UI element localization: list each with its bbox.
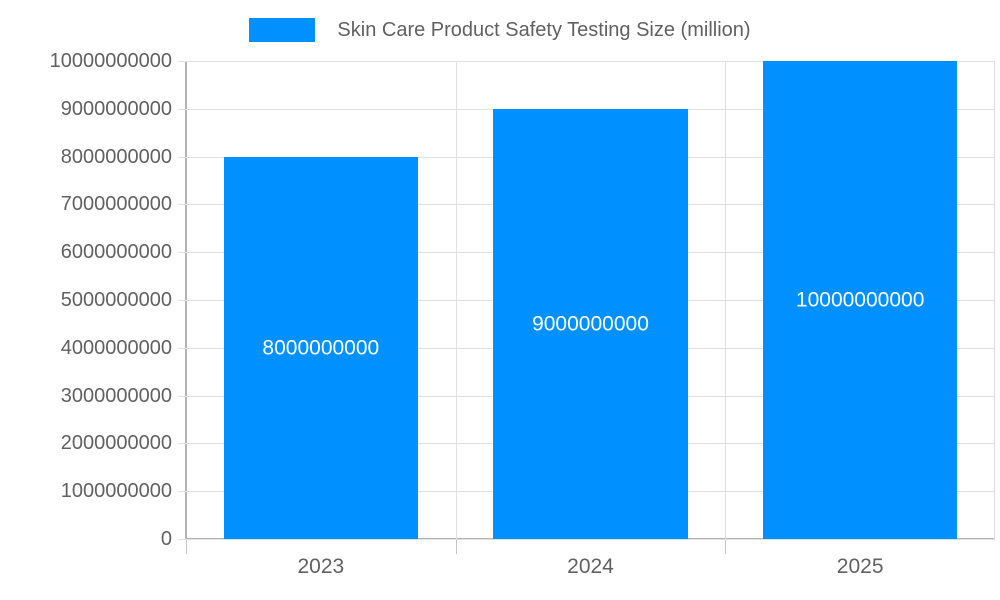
gridline-vertical: [456, 61, 457, 539]
legend-item-label: Skin Care Product Safety Testing Size (m…: [337, 20, 750, 40]
y-axis-tick-label: 0: [12, 529, 172, 549]
y-axis-tick-mark: [178, 204, 186, 205]
bar-value-label: 10000000000: [763, 290, 957, 311]
gridline-horizontal: [186, 539, 995, 540]
x-axis-tick-mark: [456, 540, 457, 554]
x-axis-tick-mark: [186, 540, 187, 554]
y-axis-tick-mark: [178, 348, 186, 349]
y-axis-tick-mark: [178, 300, 186, 301]
plot-area: 8000000000900000000010000000000: [186, 61, 995, 539]
gridline-vertical: [725, 61, 726, 539]
y-axis-tick-mark: [178, 491, 186, 492]
y-axis-tick-label: 3000000000: [12, 386, 172, 406]
bar-2025[interactable]: 10000000000: [763, 61, 957, 539]
y-axis-tick-mark: [178, 61, 186, 62]
x-axis-tick-label: 2023: [297, 556, 344, 577]
y-axis-tick-label: 10000000000: [12, 51, 172, 71]
y-axis-tick-label: 9000000000: [12, 99, 172, 119]
y-axis-tick-label: 1000000000: [12, 481, 172, 501]
y-axis-tick-label: 4000000000: [12, 338, 172, 358]
y-axis-tick-mark: [178, 109, 186, 110]
bar-2023[interactable]: 8000000000: [224, 157, 418, 539]
gridline-vertical: [994, 61, 995, 539]
y-axis-tick-label: 8000000000: [12, 147, 172, 167]
bar-chart: Skin Care Product Safety Testing Size (m…: [0, 0, 1000, 600]
y-axis-tick-label: 7000000000: [12, 194, 172, 214]
y-axis-tick-mark: [178, 252, 186, 253]
y-axis-tick-label: 6000000000: [12, 242, 172, 262]
bar-value-label: 9000000000: [493, 313, 687, 334]
x-axis-tick-label: 2025: [837, 556, 884, 577]
x-axis-tick-mark: [725, 540, 726, 554]
x-axis-tick-labels: 202320242025: [186, 556, 995, 590]
y-axis-tick-mark: [178, 443, 186, 444]
y-axis-tick-mark: [178, 157, 186, 158]
y-axis-tick-label: 2000000000: [12, 433, 172, 453]
y-axis-tick-mark: [178, 539, 186, 540]
legend-color-swatch-icon: [249, 18, 315, 42]
bar-2024[interactable]: 9000000000: [493, 109, 687, 539]
bar-value-label: 8000000000: [224, 337, 418, 358]
y-axis-tick-mark: [178, 396, 186, 397]
x-axis-tick-label: 2024: [567, 556, 614, 577]
legend-item-skin-care-product-safety-testing-size[interactable]: Skin Care Product Safety Testing Size (m…: [249, 18, 750, 42]
y-axis-tick-labels: 0100000000020000000003000000000400000000…: [0, 0, 172, 600]
y-axis-tick-label: 5000000000: [12, 290, 172, 310]
